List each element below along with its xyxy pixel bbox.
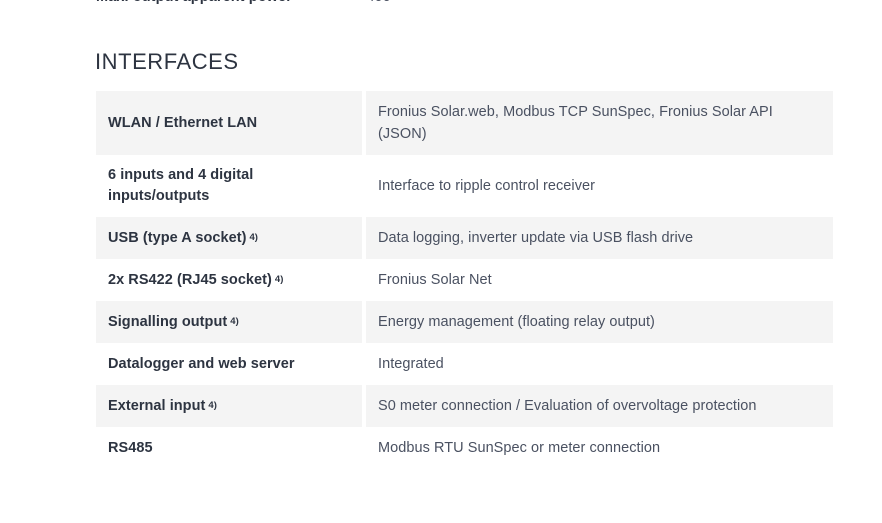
row-label-cell: 2x RS422 (RJ45 socket)4) (96, 259, 362, 301)
row-value-cell: Fronius Solar.web, Modbus TCP SunSpec, F… (366, 91, 833, 155)
cutoff-previous-row-inner: Max. output apparent power 400 (96, 0, 836, 12)
row-label-cell: WLAN / Ethernet LAN (96, 91, 362, 155)
row-value-text: Fronius Solar.web, Modbus TCP SunSpec, F… (378, 101, 817, 145)
row-label-cell: 6 inputs and 4 digital inputs/outputs (96, 155, 362, 217)
row-value-text: Integrated (378, 353, 444, 375)
row-value-cell: S0 meter connection / Evaluation of over… (366, 385, 833, 427)
row-label-text: WLAN / Ethernet LAN (108, 113, 257, 134)
row-value-cell: Data logging, inverter update via USB fl… (366, 217, 833, 259)
row-value-text: Fronius Solar Net (378, 269, 492, 291)
row-label-cell: Datalogger and web server (96, 343, 362, 385)
table-row: USB (type A socket)4) Data logging, inve… (96, 217, 833, 259)
cutoff-previous-row: Max. output apparent power 400 (0, 0, 882, 12)
cutoff-row-label: Max. output apparent power (96, 0, 362, 5)
table-row: 2x RS422 (RJ45 socket)4) Fronius Solar N… (96, 259, 833, 301)
row-label-text: Datalogger and web server (108, 354, 295, 375)
row-label-text: 6 inputs and 4 digital inputs/outputs (108, 165, 346, 207)
table-row: WLAN / Ethernet LAN Fronius Solar.web, M… (96, 91, 833, 155)
row-value-text: S0 meter connection / Evaluation of over… (378, 395, 757, 417)
table-row: RS485 Modbus RTU SunSpec or meter connec… (96, 427, 833, 469)
row-value-cell: Modbus RTU SunSpec or meter connection (366, 427, 833, 469)
row-label-text: 2x RS422 (RJ45 socket) (108, 270, 272, 291)
row-label-cell: External input4) (96, 385, 362, 427)
row-label-cell: USB (type A socket)4) (96, 217, 362, 259)
row-label-text: RS485 (108, 438, 153, 459)
row-value-text: Data logging, inverter update via USB fl… (378, 227, 693, 249)
row-label-text: Signalling output (108, 312, 227, 333)
row-value-cell: Integrated (366, 343, 833, 385)
row-value-cell: Interface to ripple control receiver (366, 155, 833, 217)
row-value-text: Modbus RTU SunSpec or meter connection (378, 437, 660, 459)
table-row: External input4) S0 meter connection / E… (96, 385, 833, 427)
cutoff-row-value: 400 (366, 0, 390, 5)
table-row: Signalling output4) Energy management (f… (96, 301, 833, 343)
section-heading-interfaces: INTERFACES (95, 48, 239, 76)
row-label-text: USB (type A socket) (108, 228, 246, 249)
row-label-text: External input (108, 396, 205, 417)
row-value-text: Interface to ripple control receiver (378, 175, 595, 197)
row-label-cell: RS485 (96, 427, 362, 469)
interfaces-spec-table: WLAN / Ethernet LAN Fronius Solar.web, M… (96, 91, 833, 469)
row-value-text: Energy management (floating relay output… (378, 311, 655, 333)
row-value-cell: Energy management (floating relay output… (366, 301, 833, 343)
row-label-cell: Signalling output4) (96, 301, 362, 343)
row-value-cell: Fronius Solar Net (366, 259, 833, 301)
table-row: Datalogger and web server Integrated (96, 343, 833, 385)
table-row: 6 inputs and 4 digital inputs/outputs In… (96, 155, 833, 217)
